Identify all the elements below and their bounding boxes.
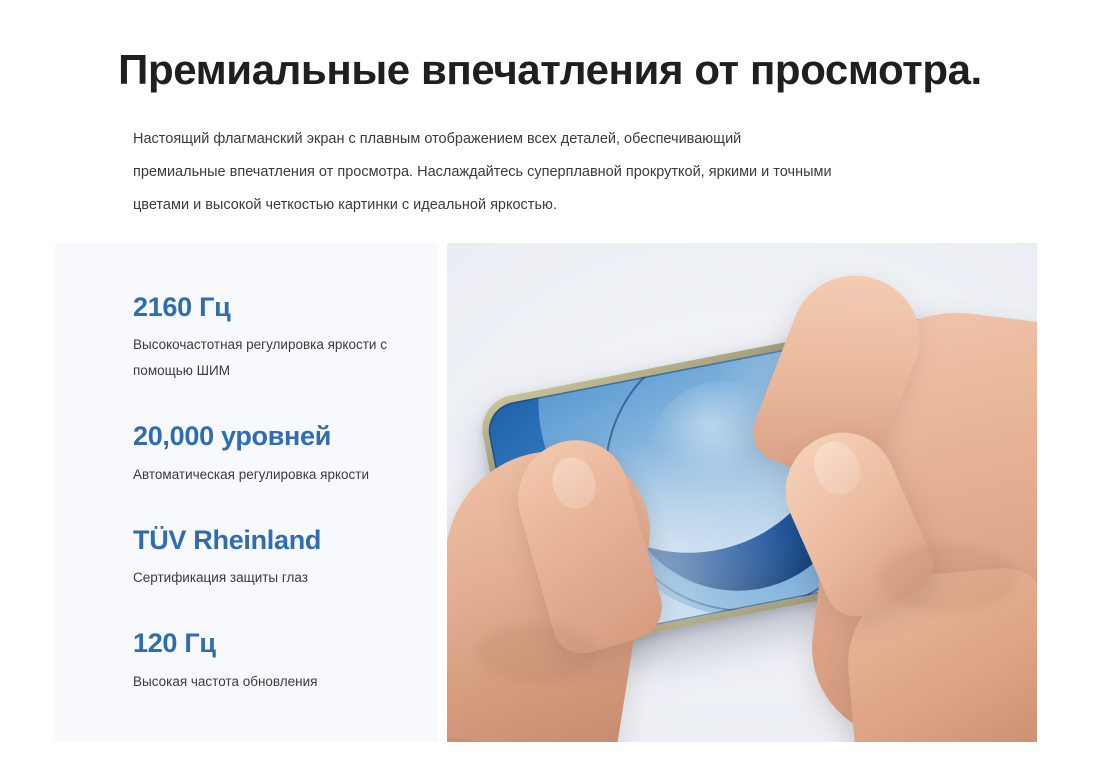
spec-item-refresh-rate: 120 Гц Высокая частота обновления	[133, 627, 423, 694]
product-image-panel	[447, 243, 1037, 742]
spec-list-panel: 2160 Гц Высокочастотная регулировка ярко…	[55, 243, 438, 742]
spec-description: Высокая частота обновления	[133, 669, 423, 695]
spec-description: Автоматическая регулировка яркости	[133, 462, 423, 488]
page-title: Премиальные впечатления от просмотра.	[0, 46, 1100, 94]
spec-value: 20,000 уровней	[133, 420, 423, 452]
spec-value: TÜV Rheinland	[133, 524, 423, 556]
spec-value: 2160 Гц	[133, 291, 423, 323]
feature-panels: 2160 Гц Высокочастотная регулировка ярко…	[55, 243, 1037, 742]
skin-shading	[877, 543, 1017, 613]
spec-value: 120 Гц	[133, 627, 423, 659]
spec-item-brightness-levels: 20,000 уровней Автоматическая регулировк…	[133, 420, 423, 487]
spec-item-pwm: 2160 Гц Высокочастотная регулировка ярко…	[133, 291, 423, 384]
intro-paragraph: Настоящий флагманский экран с плавным от…	[133, 123, 833, 222]
spec-description: Сертификация защиты глаз	[133, 565, 423, 591]
product-feature-section: Премиальные впечатления от просмотра. На…	[0, 0, 1100, 758]
product-photo	[447, 243, 1037, 742]
spec-item-tuv-rheinland: TÜV Rheinland Сертификация защиты глаз	[133, 524, 423, 591]
skin-shading	[477, 623, 597, 683]
spec-description: Высокочастотная регулировка яркости с по…	[133, 332, 423, 384]
